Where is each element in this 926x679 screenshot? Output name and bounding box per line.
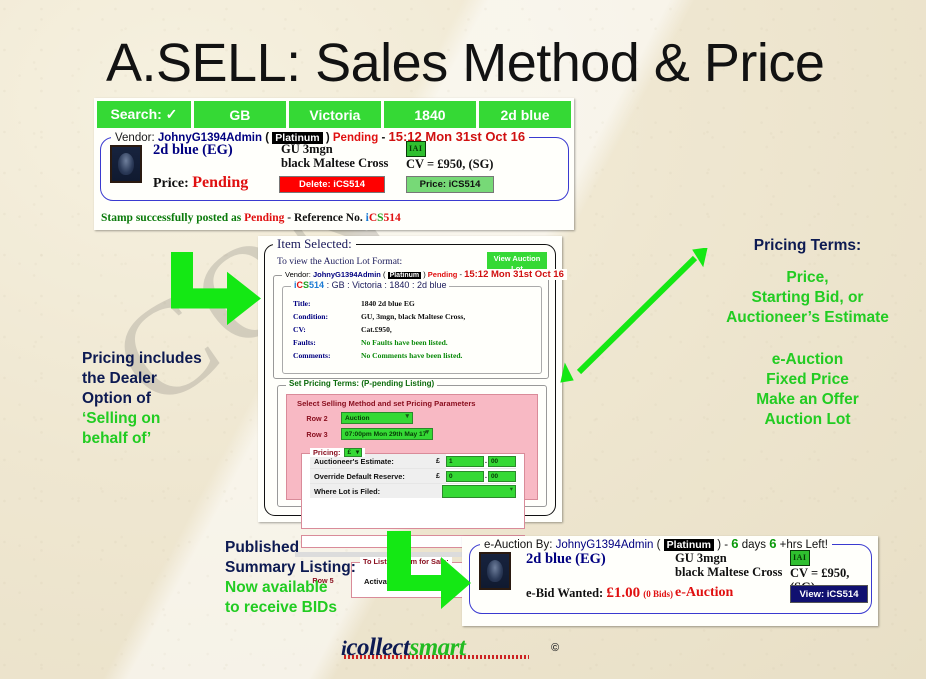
paren-open: ( bbox=[265, 132, 269, 144]
detail-value-condition: GU, 3mgn, black Maltese Cross, bbox=[361, 312, 465, 321]
status-message-pending: Pending bbox=[244, 212, 284, 224]
status-message-prefix: Stamp successfully posted as bbox=[101, 212, 244, 224]
pricing-label: Pricing: bbox=[313, 448, 341, 457]
detail-value-faults: No Faults have been listed. bbox=[361, 338, 448, 347]
auction-item-title: 2d blue (EG) bbox=[526, 551, 606, 568]
detail-value-comments: No Comments have been listed. bbox=[361, 351, 462, 360]
field-row-where-filed: Where Lot is Filed: bbox=[310, 484, 516, 498]
search-tab-country[interactable]: GB bbox=[194, 101, 286, 128]
auction-method-label: e-Auction bbox=[675, 585, 733, 601]
activate-row: Activate: iCS 514 bbox=[364, 576, 442, 587]
delete-button[interactable]: Delete: iCS514 bbox=[279, 176, 385, 193]
status-message-suffix: - Reference No. bbox=[284, 212, 365, 224]
auction-prefix: e-Auction By: bbox=[484, 539, 552, 551]
mid-status-badge: Pending bbox=[428, 270, 458, 279]
days-left-value: 6 bbox=[731, 536, 738, 551]
annotation-right-e-auction: e-Auction bbox=[700, 350, 915, 370]
row-3: Row 3 07:00pm Mon 29th May 17 bbox=[293, 427, 531, 441]
auction-vendor-name: JohnyG1394Admin bbox=[556, 539, 654, 551]
detail-value-cv: Cat.£950, bbox=[361, 325, 392, 334]
ref-rest: : GB : Victoria : 1840 : 2d blue bbox=[324, 280, 446, 290]
auction-tier-badge: Platinum bbox=[664, 539, 714, 551]
currency-select[interactable]: £ bbox=[344, 448, 363, 457]
auction-item-legend: e-Auction By: JohnyG1394Admin ( Platinum… bbox=[480, 536, 832, 551]
annotation-bottom-line-2: Summary Listing: bbox=[225, 558, 356, 578]
mid-vendor-label: Vendor: bbox=[285, 270, 311, 279]
annotation-left-line-2: the Dealer bbox=[82, 369, 202, 389]
status-message: Stamp successfully posted as Pending - R… bbox=[101, 212, 401, 224]
annotation-left-line-3: Option of bbox=[82, 389, 202, 409]
list-item-legend: To List the Item for Sale: bbox=[360, 557, 452, 566]
annotation-left-line-4: ‘Selling on bbox=[82, 409, 202, 429]
set-pricing-terms-legend: Set Pricing Terms: (P-pending Listing) bbox=[286, 379, 437, 388]
annotation-right-header: Pricing Terms: bbox=[700, 236, 915, 256]
vendor-label: Vendor: bbox=[115, 132, 155, 144]
bid-row: e-Bid Wanted: £1.00 (0 Bids) bbox=[526, 585, 673, 602]
bid-label: e-Bid Wanted: bbox=[526, 586, 603, 600]
annotation-left-line-5: behalf of’ bbox=[82, 429, 202, 449]
pricing-parameters-header: Select Selling Method and set Pricing Pa… bbox=[287, 395, 537, 411]
auction-condition-line-1: GU 3mgn bbox=[675, 551, 782, 565]
selling-method-select[interactable]: Auction bbox=[341, 412, 413, 424]
mid-tier-badge: Platinum bbox=[388, 272, 422, 279]
annotation-right-estimate: Auctioneer’s Estimate bbox=[700, 308, 915, 328]
annotation-right: Pricing Terms: Price, Starting Bid, or A… bbox=[700, 236, 915, 430]
reserve-currency-symbol: £ bbox=[436, 469, 446, 483]
estimate-minor-input[interactable]: 00 bbox=[488, 456, 516, 467]
search-tab-search[interactable]: Search: ✓ bbox=[97, 101, 191, 128]
annotation-bottom-line-4: to receive BIDs bbox=[225, 598, 356, 618]
search-tab-reign[interactable]: Victoria bbox=[289, 101, 381, 128]
search-tab-item[interactable]: 2d blue bbox=[479, 101, 571, 128]
detail-value-title: 1840 2d blue EG bbox=[361, 299, 415, 308]
pending-listing-panel: Search: ✓ GB Victoria 1840 2d blue Vendo… bbox=[94, 98, 574, 230]
row-2-label: Row 2 bbox=[293, 414, 341, 423]
pending-item-card: Vendor: JohnyG1394Admin ( Platinum ) Pen… bbox=[100, 137, 569, 201]
catalogue-value: CV = £950, (SG) bbox=[406, 157, 493, 171]
annotation-right-make-offer: Make an Offer bbox=[700, 390, 915, 410]
mid-timestamp: 15:12 Mon 31st Oct 16 bbox=[464, 269, 564, 280]
view-listing-button[interactable]: View: iCS514 bbox=[790, 585, 868, 603]
item-selected-fieldset: Item Selected: To view the Auction Lot F… bbox=[264, 244, 556, 516]
auction-end-time-select[interactable]: 07:00pm Mon 29th May 17 bbox=[341, 428, 433, 440]
estimate-currency-symbol: £ bbox=[436, 454, 446, 468]
detail-key-faults: Faults: bbox=[293, 338, 316, 347]
annotation-left: Pricing includes the Dealer Option of ‘S… bbox=[82, 349, 202, 449]
item-reference-legend: iCS514 : GB : Victoria : 1840 : 2d blue bbox=[291, 280, 449, 290]
annotation-right-fixed-price: Fixed Price bbox=[700, 370, 915, 390]
mid-vendor-name: JohnyG1394Admin bbox=[313, 270, 381, 279]
copyright-symbol: © bbox=[551, 642, 559, 654]
annotation-right-auction-lot: Auction Lot bbox=[700, 410, 915, 430]
annotation-bottom-line-3: Now available bbox=[225, 578, 356, 598]
annotation-bottom-line-1: Published bbox=[225, 538, 356, 558]
search-breadcrumb-bar: Search: ✓ GB Victoria 1840 2d blue bbox=[97, 101, 571, 128]
reserve-major-input[interactable]: 0 bbox=[446, 471, 484, 482]
detail-key-condition: Condition: bbox=[293, 312, 328, 321]
pricing-parameters-area: Select Selling Method and set Pricing Pa… bbox=[286, 394, 538, 500]
status-ref-num: 514 bbox=[384, 212, 401, 224]
view-format-hint: To view the Auction Lot Format: bbox=[277, 257, 402, 267]
view-auction-lot-line1: View Auction bbox=[487, 254, 547, 264]
reserve-minor-input[interactable]: 00 bbox=[488, 471, 516, 482]
where-filed-select[interactable] bbox=[442, 485, 516, 498]
item-reference-fieldset: iCS514 : GB : Victoria : 1840 : 2d blue … bbox=[282, 286, 542, 374]
auction-condition-line-2: black Maltese Cross bbox=[675, 565, 782, 579]
activate-label: Activate: bbox=[364, 577, 396, 586]
estimate-major-input[interactable]: 1 bbox=[446, 456, 484, 467]
iai-badge-icon: IAI bbox=[406, 141, 426, 157]
price-label: Price: bbox=[153, 176, 189, 191]
price-row: Price: Pending bbox=[153, 174, 248, 192]
pricing-legend: Pricing: £ bbox=[310, 448, 365, 457]
detail-key-cv: CV: bbox=[293, 325, 306, 334]
item-title: 2d blue (EG) bbox=[153, 142, 233, 159]
logo-underline bbox=[344, 655, 529, 659]
pricing-fieldset: Pricing: £ Auctioneer's Estimate: £ 1 . … bbox=[301, 453, 525, 529]
days-left-word: days bbox=[742, 539, 766, 551]
row-2: Row 2 Auction bbox=[293, 411, 531, 425]
price-button[interactable]: Price: iCS514 bbox=[406, 176, 494, 193]
annotation-right-starting-bid: Starting Bid, or bbox=[700, 288, 915, 308]
row-3-label: Row 3 bbox=[293, 430, 341, 439]
condition-line-2: black Maltese Cross bbox=[281, 156, 388, 170]
bid-count: (0 Bids) bbox=[643, 589, 673, 599]
auction-item-card: e-Auction By: JohnyG1394Admin ( Platinum… bbox=[469, 544, 872, 614]
where-filed-label: Where Lot is Filed: bbox=[310, 484, 442, 498]
auction-iai-badge-icon: IAI bbox=[790, 550, 810, 566]
published-auction-panel: e-Auction By: JohnyG1394Admin ( Platinum… bbox=[462, 536, 878, 626]
status-ref-c: C bbox=[369, 212, 377, 224]
ref-num: 514 bbox=[309, 280, 324, 290]
annotation-right-price: Price, bbox=[700, 268, 915, 288]
condition-line-1: GU 3mgn bbox=[281, 142, 388, 156]
page-title: A.SELL: Sales Method & Price bbox=[106, 32, 824, 94]
bid-amount: £1.00 bbox=[606, 585, 640, 601]
activate-ref-prefix: iCS bbox=[400, 577, 413, 586]
search-tab-year[interactable]: 1840 bbox=[384, 101, 476, 128]
activate-button[interactable]: 514 bbox=[417, 576, 442, 587]
set-pricing-terms-fieldset: Set Pricing Terms: (P-pending Listing) S… bbox=[277, 385, 547, 507]
hours-left-value: 6 bbox=[769, 536, 776, 551]
valuation-block: IAI CV = £950, (SG) bbox=[406, 140, 493, 171]
auction-stamp-thumbnail[interactable] bbox=[479, 552, 511, 590]
reserve-label: Override Default Reserve: bbox=[310, 469, 436, 483]
detail-key-comments: Comments: bbox=[293, 351, 331, 360]
item-selected-legend: Item Selected: bbox=[273, 236, 356, 252]
field-row-reserve: Override Default Reserve: £ 0 . 00 bbox=[310, 469, 516, 484]
annotation-bottom: Published Summary Listing: Now available… bbox=[225, 538, 356, 618]
auction-condition-block: GU 3mgn black Maltese Cross bbox=[675, 551, 782, 579]
vendor-details-legend: Vendor: JohnyG1394Admin ( Platinum ) Pen… bbox=[282, 269, 567, 280]
condition-block: GU 3mgn black Maltese Cross bbox=[281, 142, 388, 170]
item-selected-panel: Item Selected: To view the Auction Lot F… bbox=[258, 236, 562, 522]
annotation-left-line-1: Pricing includes bbox=[82, 349, 202, 369]
stamp-thumbnail[interactable] bbox=[110, 145, 142, 183]
detail-key-title: Title: bbox=[293, 299, 311, 308]
vendor-details-fieldset: Vendor: JohnyG1394Admin ( Platinum ) Pen… bbox=[273, 275, 549, 379]
price-value: Pending bbox=[192, 174, 248, 191]
